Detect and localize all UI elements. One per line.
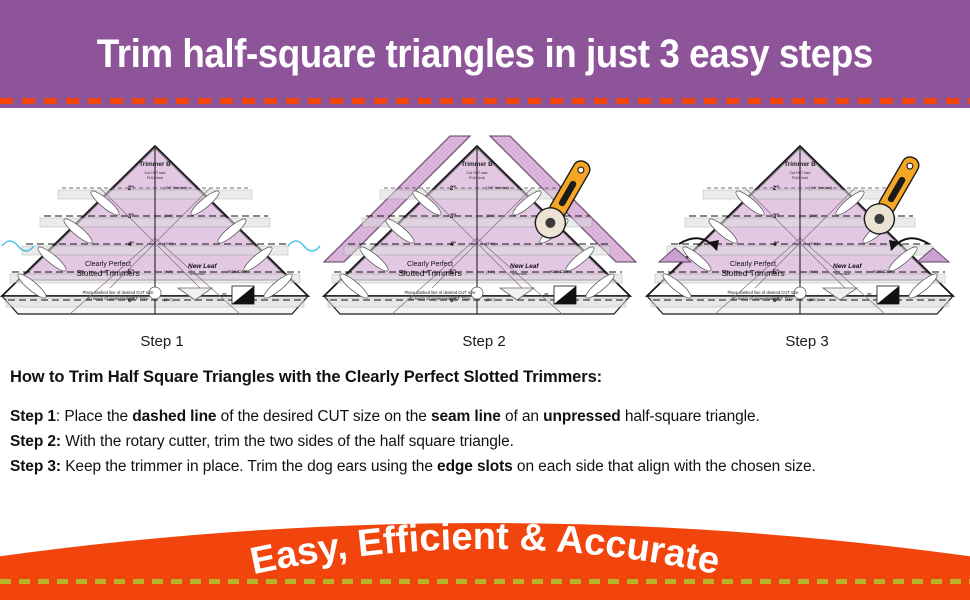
step1-text-b: of the desired CUT size on the [216, 408, 431, 425]
equals-sign: = [867, 291, 872, 300]
designer-name: Keri Carr [873, 269, 892, 274]
marking-size-1: 3" [128, 214, 134, 220]
marking-size-1: 3" [773, 214, 779, 220]
steps-row: Trimmer B Cut HST size FULL inch 2" (1½"… [0, 118, 970, 350]
trimmer-subtitle-1: Cut HST size [466, 171, 487, 175]
header-banner: Trim half-square triangles in just 3 eas… [0, 0, 970, 108]
signature-sub: STITCHES [190, 272, 205, 276]
bottom-banner: Easy, Efficient & Accurate [0, 490, 970, 600]
marking-finished-4: (5½") [164, 298, 174, 302]
designer-name: Keri Carr [550, 269, 569, 274]
step3-bold-edge-slots: edge slots [437, 458, 513, 475]
note-line-1: Place dashed line of desired CUT size [405, 290, 477, 295]
marking-finished-1: (2½") [809, 214, 819, 218]
marking-finished-2: (3½") [809, 242, 819, 246]
step2-text-a: With the rotary cutter, trim the two sid… [61, 433, 514, 450]
banner-text: Easy, Efficient & Accurate [247, 516, 724, 583]
equals-sign: = [544, 291, 549, 300]
brand-line-1: Clearly Perfect [85, 261, 131, 268]
step2-bold-prefix: Step 2: [10, 433, 61, 450]
trimmer-subtitle-1: Cut HST size [144, 171, 165, 175]
note-line-2: on seam of unpressed HST. Trim. [87, 296, 149, 301]
marking-size-0: 2" [773, 186, 779, 192]
step1-bold-dashed-line: dashed line [132, 408, 216, 425]
note-line-2: on seam of unpressed HST. Trim. [409, 296, 471, 301]
step-2-illustration: Trimmer B Cut HST size FULL inch 2" (1½"… [322, 118, 646, 350]
header-dashed-divider [0, 98, 970, 104]
marking-size-0: 2" [128, 186, 134, 192]
note-line-2: on seam of unpressed HST. Trim. [732, 296, 794, 301]
step3-bold-prefix: Step 3: [10, 458, 61, 475]
step1-bold-seam-line: seam line [431, 408, 501, 425]
marking-finished-4: (5½") [486, 298, 496, 302]
instruction-line-step3: Step 3: Keep the trimmer in place. Trim … [10, 455, 960, 478]
trimmer-note: Place dashed line of desired CUT size on… [83, 290, 155, 301]
marking-finished-1: (2½") [486, 214, 496, 218]
brand-line-2: Slotted Trimmers [76, 268, 139, 278]
step-1-illustration: Trimmer B Cut HST size FULL inch 2" (1½"… [0, 118, 324, 350]
trimmer-title: Trimmer B [139, 161, 171, 168]
marking-size-2: 4" [450, 242, 456, 248]
marking-size-1: 3" [450, 214, 456, 220]
step-3-illustration: Trimmer B Cut HST size FULL inch 2" (1½"… [645, 118, 969, 350]
step1-text-a: : Place the [56, 408, 132, 425]
signature-sub: STITCHES [835, 272, 850, 276]
marking-finished-3: (4½") [809, 270, 819, 274]
trimmer-title: Trimmer B [784, 161, 816, 168]
marking-finished-1: (2½") [164, 214, 174, 218]
trimmer-subtitle-2: FULL inch [792, 176, 808, 180]
instructions-block: How to Trim Half Square Triangles with t… [10, 368, 960, 480]
note-line-1: Place dashed line of desired CUT size [83, 290, 155, 295]
trimmer-subtitle-2: FULL inch [147, 176, 163, 180]
signature-mark: New Leaf [188, 263, 217, 270]
brand-line-1: Clearly Perfect [730, 261, 776, 268]
marking-finished-3: (4½") [164, 270, 174, 274]
marking-finished-0: (1½" finished) [809, 186, 833, 190]
brand-line-2: Slotted Trimmers [721, 268, 784, 278]
trimmer-diagram-step-2: Trimmer B Cut HST size FULL inch 2" (1½"… [322, 118, 646, 333]
trimmer-diagram-step-1: Trimmer B Cut HST size FULL inch 2" (1½"… [0, 118, 324, 333]
marking-finished-4: (5½") [809, 298, 819, 302]
marking-finished-2: (3½") [164, 242, 174, 246]
infographic-page: Trim half-square triangles in just 3 eas… [0, 0, 970, 600]
signature-sub: STITCHES [512, 272, 527, 276]
marking-size-2: 4" [773, 242, 779, 248]
note-line-1: Place dashed line of desired CUT size [728, 290, 800, 295]
step-label-1: Step 1 [0, 333, 324, 350]
trimmer-diagram-step-3: Trimmer B Cut HST size FULL inch 2" (1½"… [645, 118, 969, 333]
step1-text-d: half-square triangle. [621, 408, 760, 425]
page-title: Trim half-square triangles in just 3 eas… [97, 32, 873, 77]
step1-bold-unpressed: unpressed [543, 408, 621, 425]
trimmer-subtitle-1: Cut HST size [789, 171, 810, 175]
marking-size-2: 4" [128, 242, 134, 248]
signature-mark: New Leaf [510, 263, 539, 270]
marking-finished-3: (4½") [486, 270, 496, 274]
trimmer-title: Trimmer B [461, 161, 493, 168]
step3-text-b: on each side that align with the chosen … [513, 458, 816, 475]
brand-line-1: Clearly Perfect [407, 261, 453, 268]
instructions-heading: How to Trim Half Square Triangles with t… [10, 368, 960, 387]
trimmer-subtitle-2: FULL inch [469, 176, 485, 180]
trimmer-note: Place dashed line of desired CUT size on… [405, 290, 477, 301]
svg-text:Easy, Efficient & Accurate: Easy, Efficient & Accurate [247, 516, 724, 583]
step3-text-a: Keep the trimmer in place. Trim the dog … [61, 458, 437, 475]
marking-finished-0: (1½" finished) [486, 186, 510, 190]
banner-text-svg: Easy, Efficient & Accurate [0, 490, 970, 600]
signature-mark: New Leaf [833, 263, 862, 270]
equals-sign: = [222, 291, 227, 300]
brand-line-2: Slotted Trimmers [398, 268, 461, 278]
trimmer-note: Place dashed line of desired CUT size on… [728, 290, 800, 301]
marking-size-0: 2" [450, 186, 456, 192]
step1-bold-prefix: Step 1 [10, 408, 56, 425]
marking-finished-2: (3½") [486, 242, 496, 246]
marking-finished-0: (1½" finished) [164, 186, 188, 190]
step1-text-c: of an [501, 408, 543, 425]
instruction-line-step2: Step 2: With the rotary cutter, trim the… [10, 430, 960, 453]
step-label-3: Step 3 [645, 333, 969, 350]
designer-name: Keri Carr [228, 269, 247, 274]
instruction-line-step1: Step 1: Place the dashed line of the des… [10, 405, 960, 428]
step-label-2: Step 2 [322, 333, 646, 350]
